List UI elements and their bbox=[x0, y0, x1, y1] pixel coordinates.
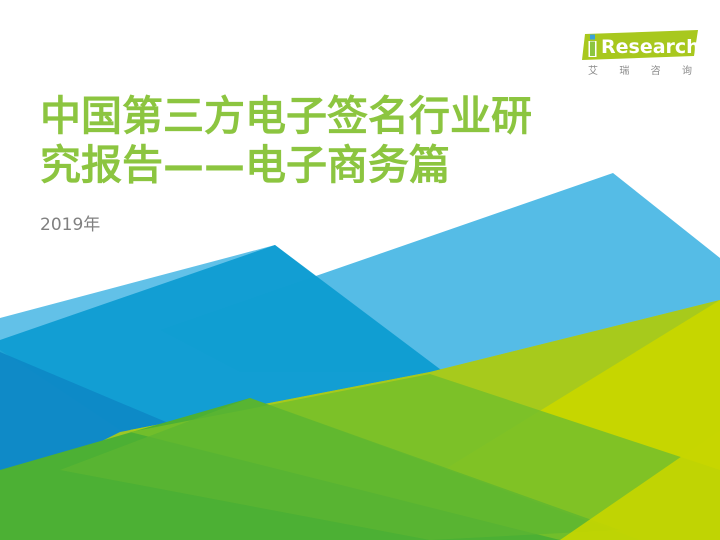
report-cover-slide: Research 艾 瑞 咨 询 中国第三方电子签名行业研 究报告——电子商务篇… bbox=[0, 0, 720, 540]
iresearch-wordmark: Research bbox=[582, 30, 702, 64]
iresearch-logo: Research 艾 瑞 咨 询 bbox=[582, 30, 702, 86]
report-date: 2019年 bbox=[40, 190, 600, 236]
logo-company-cn-char-1: 艾 bbox=[588, 65, 598, 79]
page-title: 中国第三方电子签名行业研 究报告——电子商务篇 bbox=[40, 92, 600, 190]
logo-company-cn-char-4: 询 bbox=[682, 65, 692, 79]
logo-plate-icon: Research bbox=[582, 30, 702, 64]
logo-company-cn: 艾 瑞 咨 询 bbox=[588, 65, 692, 79]
title-block: 中国第三方电子签名行业研 究报告——电子商务篇 2019年 bbox=[40, 92, 600, 236]
logo-company-cn-char-3: 咨 bbox=[651, 65, 661, 79]
logo-wordmark-text: Research bbox=[601, 36, 700, 58]
logo-company-cn-char-2: 瑞 bbox=[619, 65, 629, 79]
